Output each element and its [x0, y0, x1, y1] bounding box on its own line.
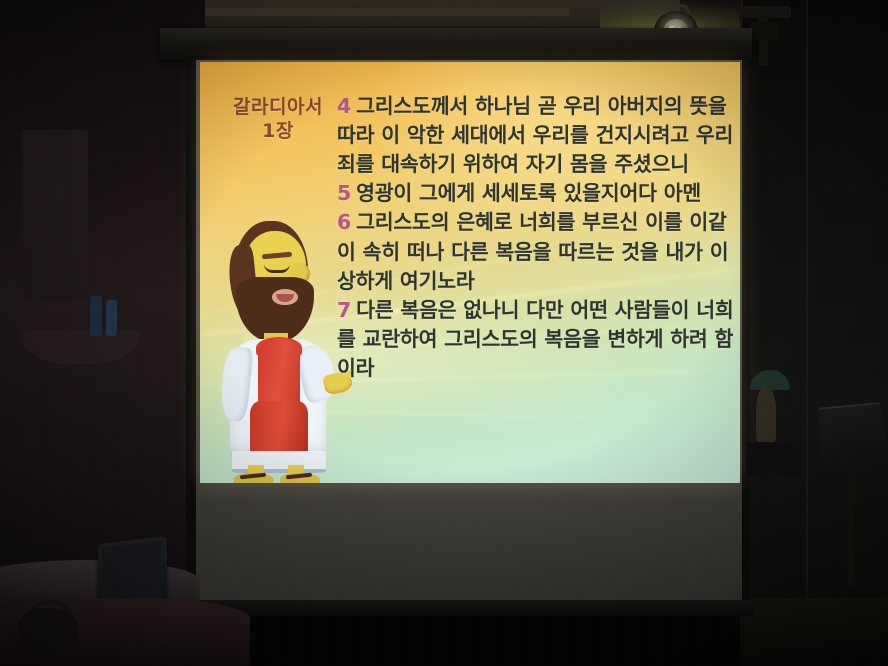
bottle: [106, 300, 117, 336]
verse-number: 6: [337, 210, 351, 234]
verse-body: 그리스도께서 하나님 곧 우리 아버지의 뜻을 따라 이 악한 세대에서 우리를…: [337, 94, 733, 176]
floor: [740, 598, 888, 666]
figure-body: [756, 388, 776, 446]
music-stand: [820, 400, 888, 600]
projected-slide: 갈라디아서 1장: [200, 62, 740, 483]
projected-slide-photo: 갈라디아서 1장: [0, 0, 888, 666]
mount-head: [749, 22, 779, 40]
slide-title: 갈라디아서 1장: [210, 96, 346, 144]
verse-body: 그리스도의 은혜로 너희를 부르신 이를 이같이 속히 떠나 다른 복음을 따르…: [337, 210, 728, 292]
bottle: [90, 296, 102, 336]
ceiling-rail: [150, 8, 570, 16]
verse-text-block: 4그리스도께서 하나님 곧 우리 아버지의 뜻을 따라 이 악한 세대에서 우리…: [337, 92, 735, 383]
cartoon-jesus-illustration: [206, 215, 356, 483]
verse-line: 6그리스도의 은혜로 너희를 부르신 이를 이같이 속히 떠나 다른 복음을 따…: [337, 208, 735, 295]
verse-body: 다른 복음은 없나니 다만 어떤 사람들이 너희를 교란하여 그리스도의 복음을…: [337, 298, 734, 380]
slide-title-chapter: 1장: [210, 120, 346, 144]
umbrella-figure: [748, 370, 794, 490]
jesus-robe-hem: [232, 451, 326, 473]
verse-body: 영광이 그에게 세세토록 있을지어다 아멘: [356, 181, 701, 205]
figure-base: [746, 442, 802, 476]
slide-title-book: 갈라디아서: [210, 96, 346, 120]
screen-bottom-bar: [176, 600, 754, 616]
verse-line: 7다른 복음은 없나니 다만 어떤 사람들이 너희를 교란하여 그리스도의 복음…: [337, 296, 735, 383]
umbrella-icon: [750, 370, 790, 390]
bag: [18, 608, 78, 658]
wall-panel: [22, 130, 88, 300]
verse-number: 7: [337, 298, 351, 322]
verse-line: 4그리스도께서 하나님 곧 우리 아버지의 뜻을 따라 이 악한 세대에서 우리…: [337, 92, 735, 179]
wall-seam-secondary: [806, 0, 808, 666]
verse-line: 5영광이 그에게 세세토록 있을지어다 아멘: [337, 179, 735, 208]
music-stand-pole: [848, 466, 854, 586]
verse-number: 4: [337, 94, 351, 118]
verse-number: 5: [337, 181, 351, 205]
